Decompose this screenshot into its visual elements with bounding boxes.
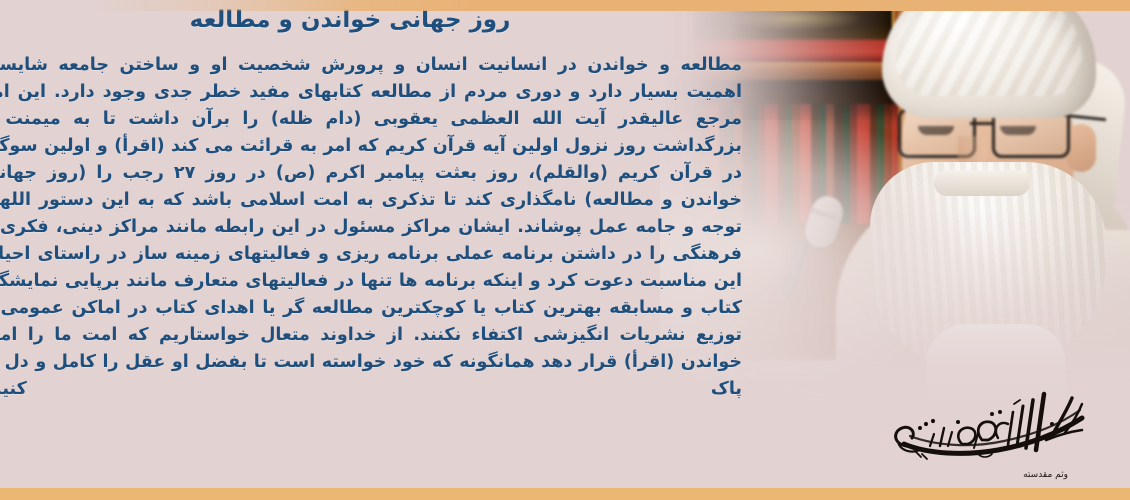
body-paragraph-text: مطالعه و خواندن در انسانیت انسان و پرورش… <box>0 52 742 403</box>
calligraphy-subtext: وثم مقدسته <box>1023 470 1068 480</box>
turban-icon <box>882 0 1096 118</box>
banner-root: وثم مقدسته روز جهانی خواندن و مطالعه مطا… <box>0 0 1130 500</box>
body-paragraph: مطالعه و خواندن در انسانیت انسان و پرورش… <box>0 52 742 403</box>
calligraphy-signature-icon <box>886 388 1096 474</box>
top-accent-bar <box>0 0 1130 11</box>
bottom-accent-bar <box>0 488 1130 500</box>
